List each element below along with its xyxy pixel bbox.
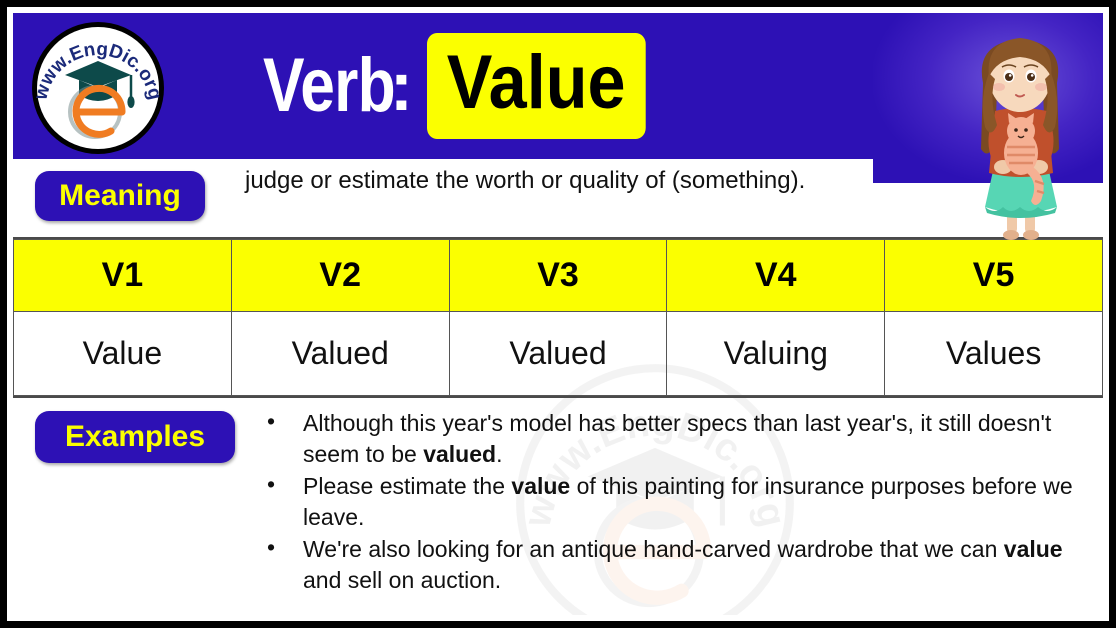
list-item: Although this year's model has better sp…	[261, 408, 1079, 469]
column-header-v2: V2	[231, 240, 449, 312]
examples-list: Although this year's model has better sp…	[261, 408, 1079, 597]
column-header-v3: V3	[449, 240, 667, 312]
meaning-label: Meaning	[35, 171, 205, 221]
poster-header: www.EngDic.org	[13, 13, 1103, 159]
vocabulary-poster: www.EngDic.org	[0, 0, 1116, 628]
highlighted-word: value	[1004, 536, 1063, 562]
part-of-speech-label: Verb	[263, 48, 395, 124]
girl-with-cat-illustration	[945, 21, 1095, 247]
column-header-v4: V4	[667, 240, 885, 312]
meaning-text: judge or estimate the worth or quality o…	[245, 166, 855, 196]
verb-form-v2: Valued	[231, 312, 449, 396]
meaning-row: Meaning judge or estimate the worth or q…	[13, 159, 1103, 239]
verb-form-v1: Value	[14, 312, 232, 396]
verb-forms-table: V1 V2 V3 V4 V5 Value Valued Valued Valui…	[13, 239, 1103, 396]
poster-inner: www.EngDic.org	[13, 13, 1103, 615]
headword-label: Value	[427, 33, 645, 139]
table-row: Value Valued Valued Valuing Values	[14, 312, 1103, 396]
highlighted-word: value	[511, 473, 570, 499]
table-header-row: V1 V2 V3 V4 V5	[14, 240, 1103, 312]
verb-form-v3: Valued	[449, 312, 667, 396]
column-header-v1: V1	[14, 240, 232, 312]
column-header-v5: V5	[885, 240, 1103, 312]
list-item: Please estimate the value of this painti…	[261, 471, 1079, 532]
examples-row: Examples Although this year's model has …	[13, 396, 1103, 614]
highlighted-word: valued	[423, 441, 496, 467]
poster-title: Verb : Value	[263, 13, 670, 159]
engdic-logo-icon[interactable]: www.EngDic.org	[27, 17, 169, 159]
verb-form-v5: Values	[885, 312, 1103, 396]
list-item: We're also looking for an antique hand-c…	[261, 534, 1079, 595]
examples-label: Examples	[35, 411, 235, 463]
verb-form-v4: Valuing	[667, 312, 885, 396]
